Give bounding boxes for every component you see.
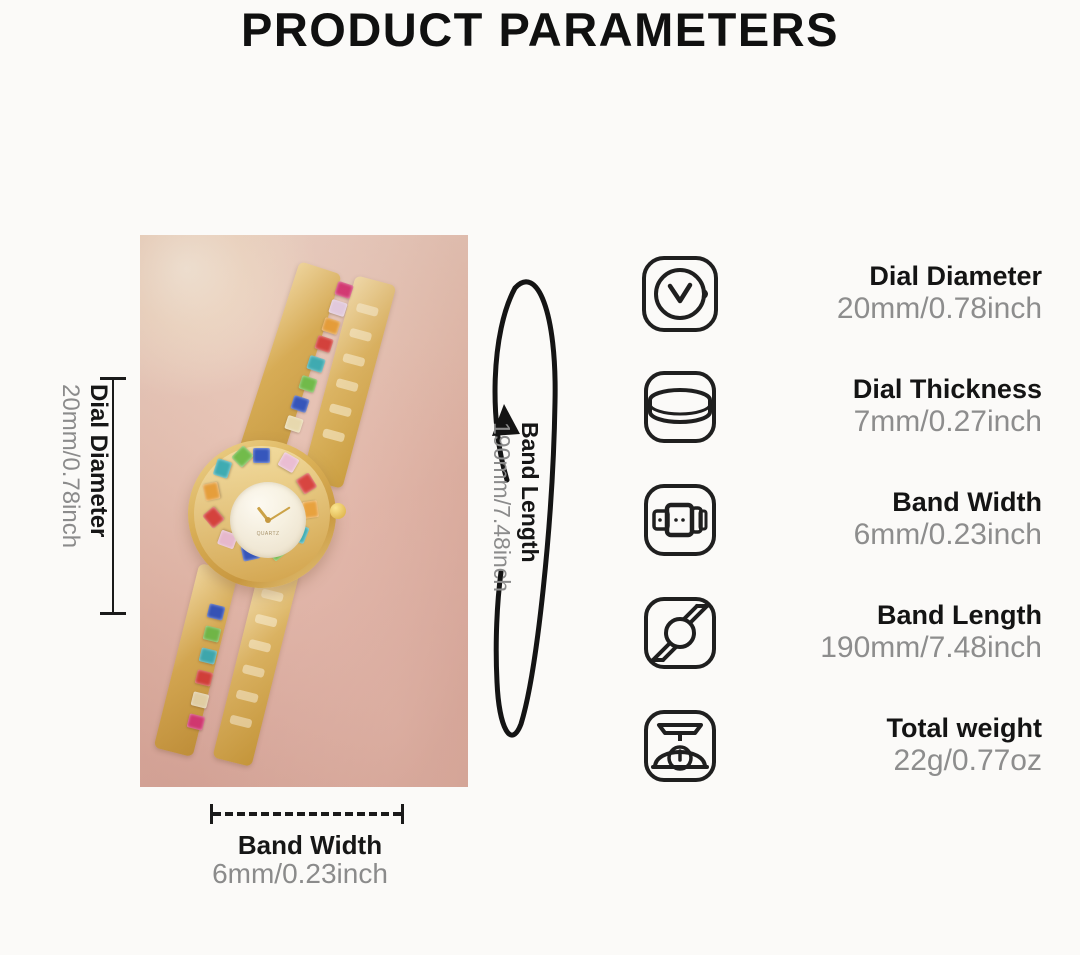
disc-thickness-icon bbox=[630, 364, 730, 450]
spec-value: 20mm/0.78inch bbox=[730, 293, 1042, 325]
spec-text-total-weight: Total weight 22g/0.77oz bbox=[730, 714, 1060, 778]
watch-dial-icon bbox=[630, 251, 730, 337]
spec-text-band-width: Band Width 6mm/0.23inch bbox=[730, 488, 1060, 552]
spec-label: Dial Thickness bbox=[730, 375, 1042, 404]
spec-label: Band Width bbox=[730, 488, 1042, 517]
dial-diameter-annotation-label: Dial Diameter bbox=[84, 384, 112, 537]
band-length-annotation-value: 190mm/7.48inch bbox=[488, 422, 515, 592]
spec-list: Dial Diameter 20mm/0.78inch Dial Thickne… bbox=[630, 237, 1060, 802]
band-width-dimension bbox=[208, 804, 406, 824]
band-length-annotation: Band Length 190mm/7.48inch bbox=[505, 418, 565, 678]
spec-row-band-length: Band Length 190mm/7.48inch bbox=[630, 576, 1060, 689]
watch-strap-buckle-icon bbox=[630, 477, 730, 563]
spec-label: Band Length bbox=[730, 601, 1042, 630]
band-length-annotation-label: Band Length bbox=[516, 422, 543, 563]
dial-diameter-annotation-value: 20mm/0.78inch bbox=[56, 384, 84, 548]
spec-value: 190mm/7.48inch bbox=[730, 632, 1042, 664]
spec-row-band-width: Band Width 6mm/0.23inch bbox=[630, 463, 1060, 576]
spec-text-band-length: Band Length 190mm/7.48inch bbox=[730, 601, 1060, 665]
band-width-cap-right bbox=[401, 804, 404, 824]
spec-label: Total weight bbox=[730, 714, 1042, 743]
spec-value: 22g/0.77oz bbox=[730, 745, 1042, 777]
spec-row-total-weight: Total weight 22g/0.77oz bbox=[630, 689, 1060, 802]
band-width-annotation-value: 6mm/0.23inch bbox=[130, 858, 470, 890]
spec-row-dial-thickness: Dial Thickness 7mm/0.27inch bbox=[630, 350, 1060, 463]
dial-diameter-annotation: Dial Diameter 20mm/0.78inch bbox=[36, 380, 114, 616]
kitchen-scale-icon bbox=[630, 703, 730, 789]
band-width-dashed-line bbox=[213, 812, 401, 816]
band-width-annotation-label: Band Width bbox=[140, 830, 480, 861]
product-photo: QUARTZ bbox=[140, 235, 468, 787]
page-title: PRODUCT PARAMETERS bbox=[0, 2, 1080, 57]
spec-value: 7mm/0.27inch bbox=[730, 406, 1042, 438]
photo-vignette bbox=[140, 235, 468, 787]
spec-text-dial-thickness: Dial Thickness 7mm/0.27inch bbox=[730, 375, 1060, 439]
spec-value: 6mm/0.23inch bbox=[730, 519, 1042, 551]
spec-text-dial-diameter: Dial Diameter 20mm/0.78inch bbox=[730, 262, 1060, 326]
watch-diagonal-icon bbox=[630, 590, 730, 676]
spec-row-dial-diameter: Dial Diameter 20mm/0.78inch bbox=[630, 237, 1060, 350]
spec-label: Dial Diameter bbox=[730, 262, 1042, 291]
